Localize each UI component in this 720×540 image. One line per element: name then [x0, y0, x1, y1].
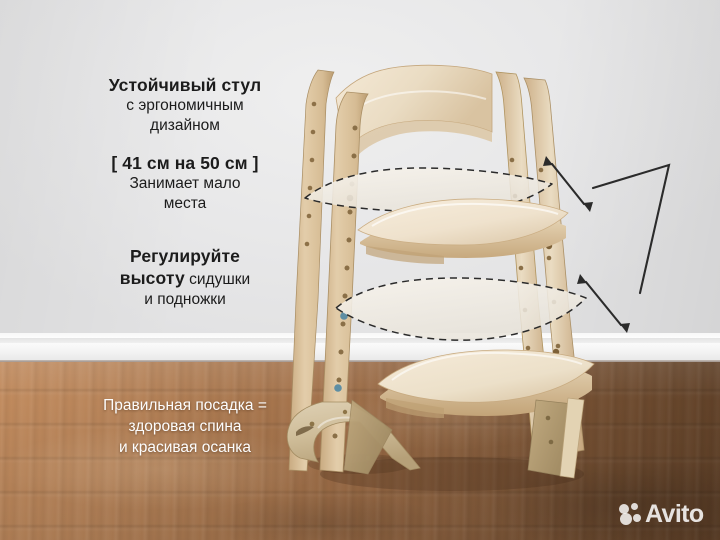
avito-wordmark: Avito [645, 502, 704, 527]
adjustable-line-1: Регулируйте [60, 245, 310, 267]
footprint-line-3: места [60, 194, 310, 214]
stability-line-2: с эргономичным [60, 96, 310, 116]
posture-line-1: Правильная посадка = [50, 396, 320, 417]
stability-line-1: Устойчивый стул [60, 74, 310, 96]
adjustable-emphasis-tail: сидушки [185, 271, 250, 288]
posture-line-3: и красивая осанка [50, 438, 320, 459]
avito-watermark: Avito [619, 499, 715, 529]
product-image-canvas: Устойчивый стул с эргономичным дизайном … [0, 0, 720, 540]
adjustable-line-2: высоту сидушки [60, 267, 310, 290]
seat-arrow-head-down [583, 202, 593, 212]
adjustable-line-3: и подножки [60, 290, 310, 310]
footrest-arrow-head-up [577, 274, 587, 284]
text-block-posture: Правильная посадка = здоровая спина и кр… [50, 396, 320, 459]
footprint-dimensions: [ 41 см на 50 см ] [60, 152, 310, 174]
footrest-adjust-outline [336, 278, 586, 340]
adjustable-emphasis: высоту [120, 268, 185, 288]
footprint-line-2: Занимает мало [60, 174, 310, 194]
posture-line-2: здоровая спина [50, 417, 320, 438]
text-block-stability: Устойчивый стул с эргономичным дизайном [60, 74, 310, 135]
footrest-arrow-head-down [620, 323, 630, 333]
avito-dots-icon [619, 503, 643, 525]
text-block-footprint: [ 41 см на 50 см ] Занимает мало места [60, 152, 310, 213]
text-block-adjustable: Регулируйте высоту сидушки и подножки [60, 245, 310, 309]
front-left-knob-footrest [334, 384, 342, 392]
stability-line-3: дизайном [60, 116, 310, 136]
annotation-connector [593, 165, 669, 293]
footrest-height-arrow-shaft [586, 282, 621, 325]
